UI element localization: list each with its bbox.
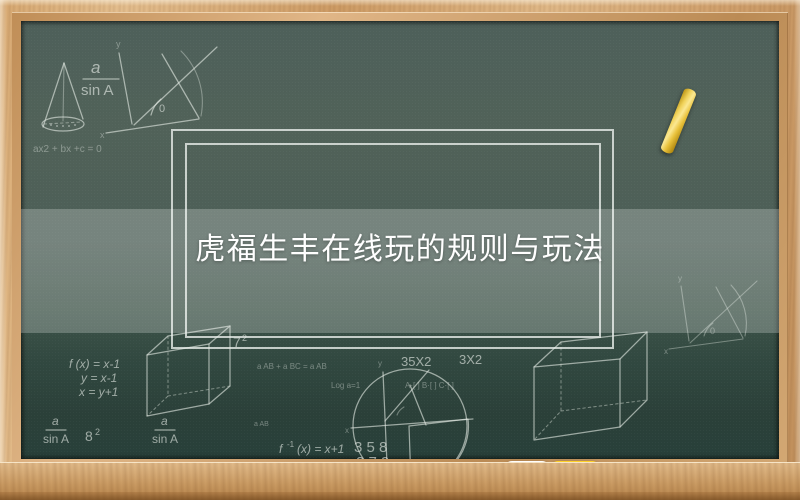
chalkboard-banner: a sin A ax2 + bx +c = 0 y x 0 bbox=[0, 0, 800, 500]
chalk-quadratic-equation: ax2 + bx +c = 0 bbox=[33, 144, 102, 155]
svg-text:-1: -1 bbox=[287, 440, 295, 449]
chalk-bracket-series: A·[ ] B·[ ] C·[ ] bbox=[405, 381, 454, 390]
chalk-35x2: 35X2 bbox=[401, 354, 431, 369]
chalk-formula-a-over-sinA-topleft: a sin A bbox=[81, 58, 119, 99]
chalk-inverse-function: f -1 (x) = x+1 bbox=[279, 440, 344, 456]
headline-container: 虎福生丰在线玩的规则与玩法 bbox=[0, 188, 800, 312]
chalk-eight-squared: 8 2 bbox=[85, 427, 100, 444]
svg-text:x = y+1: x = y+1 bbox=[78, 385, 118, 399]
chalk-ab-fragment: a AB bbox=[254, 421, 269, 428]
svg-text:y = x-1: y = x-1 bbox=[80, 371, 117, 385]
page-title: 虎福生丰在线玩的规则与玩法 bbox=[195, 235, 605, 265]
chalk-a-over-sinA-bottom-center: a sin A bbox=[152, 414, 178, 446]
svg-text:a: a bbox=[91, 58, 100, 77]
svg-text:y: y bbox=[116, 39, 121, 49]
svg-text:sin A: sin A bbox=[81, 82, 114, 99]
svg-text:y: y bbox=[378, 359, 382, 368]
svg-text:x: x bbox=[345, 426, 349, 435]
chalk-cube-center bbox=[147, 326, 230, 416]
svg-text:sin A: sin A bbox=[43, 432, 69, 446]
chalk-log-a: Log a=1 bbox=[331, 381, 361, 390]
chalk-3x2: 3X2 bbox=[459, 352, 482, 367]
wooden-chalk-ledge bbox=[0, 462, 800, 500]
chalk-angle-axes-left: y x 0 bbox=[100, 39, 217, 140]
chalk-ab-bc-expression: a AB + a BC = a AB bbox=[257, 362, 327, 371]
chalk-circle-sector-diagram: y x bbox=[345, 359, 473, 459]
svg-text:3 5 8: 3 5 8 bbox=[354, 439, 387, 456]
svg-text:2 7 9: 2 7 9 bbox=[356, 454, 389, 459]
svg-text:2: 2 bbox=[95, 427, 100, 437]
svg-text:(x) = x+1: (x) = x+1 bbox=[297, 442, 344, 456]
ledge-lip bbox=[0, 492, 800, 500]
svg-text:0: 0 bbox=[159, 103, 165, 115]
chalk-cube-right bbox=[534, 332, 647, 440]
chalk-arithmetic-columns: 3 5 8 2 7 9 6 3 7 bbox=[352, 439, 396, 459]
chalk-seven-squared: 7 bbox=[233, 334, 241, 350]
svg-text:a: a bbox=[52, 414, 59, 428]
svg-text:2: 2 bbox=[242, 333, 247, 343]
svg-text:x: x bbox=[664, 347, 668, 356]
svg-text:x: x bbox=[100, 130, 105, 140]
svg-text:f: f bbox=[279, 442, 284, 456]
chalk-a-over-sinA-bottom-left: a sin A bbox=[43, 414, 69, 446]
svg-text:f (x) = x-1: f (x) = x-1 bbox=[69, 357, 120, 371]
chalk-cone-figure bbox=[42, 63, 84, 131]
svg-text:a: a bbox=[161, 414, 168, 428]
svg-text:0: 0 bbox=[710, 326, 715, 336]
svg-text:sin A: sin A bbox=[152, 432, 178, 446]
chalk-function-equations: f (x) = x-1 y = x-1 x = y+1 bbox=[69, 357, 120, 399]
svg-text:8: 8 bbox=[85, 428, 93, 444]
